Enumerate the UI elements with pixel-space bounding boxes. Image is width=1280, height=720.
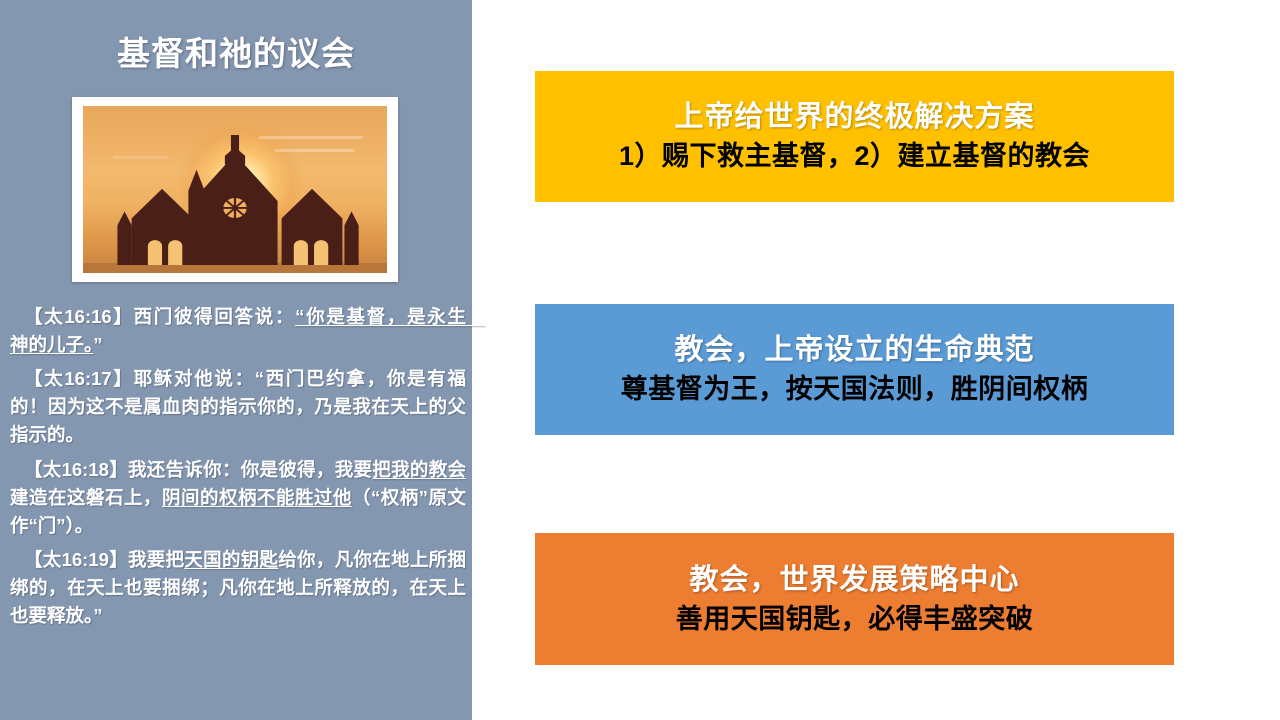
verse-matthew-16-16: 【太16:16】西门彼得回答说：“你是基督，是永生 神的儿子。” (10, 303, 466, 359)
verse-segment-underlined: 阴间的权柄不能胜过他 (162, 487, 352, 508)
verse-segment-underlined: 把我的教会 (372, 459, 466, 480)
verse-segment: 建造在这磐石上， (10, 487, 162, 508)
page-title: 基督和祂的议会 (0, 36, 472, 72)
callout-subtext: 善用天国钥匙，必得丰盛突破 (676, 603, 1034, 635)
church-photo-frame (72, 97, 398, 282)
left-sidebar-panel: 基督和祂的议会 (0, 0, 472, 720)
presentation-slide: 基督和祂的议会 (0, 0, 1280, 720)
verse-segment: 【太16:17】耶稣对他说：“西门巴约拿，你是有福的！因为这不是属血肉的指示你的… (10, 368, 466, 445)
verse-segment: 【太16:19】我要把 (24, 549, 184, 570)
verse-segment: ” (93, 334, 102, 355)
callout-box-church-strategy-center: 教会，世界发展策略中心 善用天国钥匙，必得丰盛突破 (535, 533, 1174, 665)
verse-matthew-16-17: 【太16:17】耶稣对他说：“西门巴约拿，你是有福的！因为这不是属血肉的指示你的… (10, 365, 466, 449)
callout-heading: 教会，上帝设立的生命典范 (674, 333, 1034, 368)
callout-heading: 教会，世界发展策略中心 (689, 563, 1019, 598)
verse-segment: 【太16:18】我还告诉你：你是彼得，我要 (24, 459, 372, 480)
verse-segment: 【太16:16】西门彼得回答说： (24, 306, 295, 327)
verse-matthew-16-19: 【太16:19】我要把天国的钥匙给你，凡你在地上所捆绑的，在天上也要捆绑；凡你在… (10, 546, 466, 630)
callout-box-gods-solution: 上帝给世界的终极解决方案 1）赐下救主基督，2）建立基督的教会 (535, 71, 1174, 202)
scripture-text-block: 【太16:16】西门彼得回答说：“你是基督，是永生 神的儿子。” 【太16:17… (10, 303, 466, 630)
callout-heading: 上帝给世界的终极解决方案 (674, 100, 1034, 135)
church-silhouette-icon (83, 135, 387, 265)
callout-subtext: 1）赐下救主基督，2）建立基督的教会 (619, 140, 1090, 172)
church-sunset-photo (83, 106, 387, 273)
verse-matthew-16-18: 【太16:18】我还告诉你：你是彼得，我要把我的教会建造在这磐石上，阴间的权柄不… (10, 456, 466, 540)
callout-box-church-life-model: 教会，上帝设立的生命典范 尊基督为王，按天国法则，胜阴间权柄 (535, 304, 1174, 435)
callout-subtext: 尊基督为王，按天国法则，胜阴间权柄 (621, 373, 1089, 405)
verse-segment-underlined: 天国的钥匙 (184, 549, 278, 570)
